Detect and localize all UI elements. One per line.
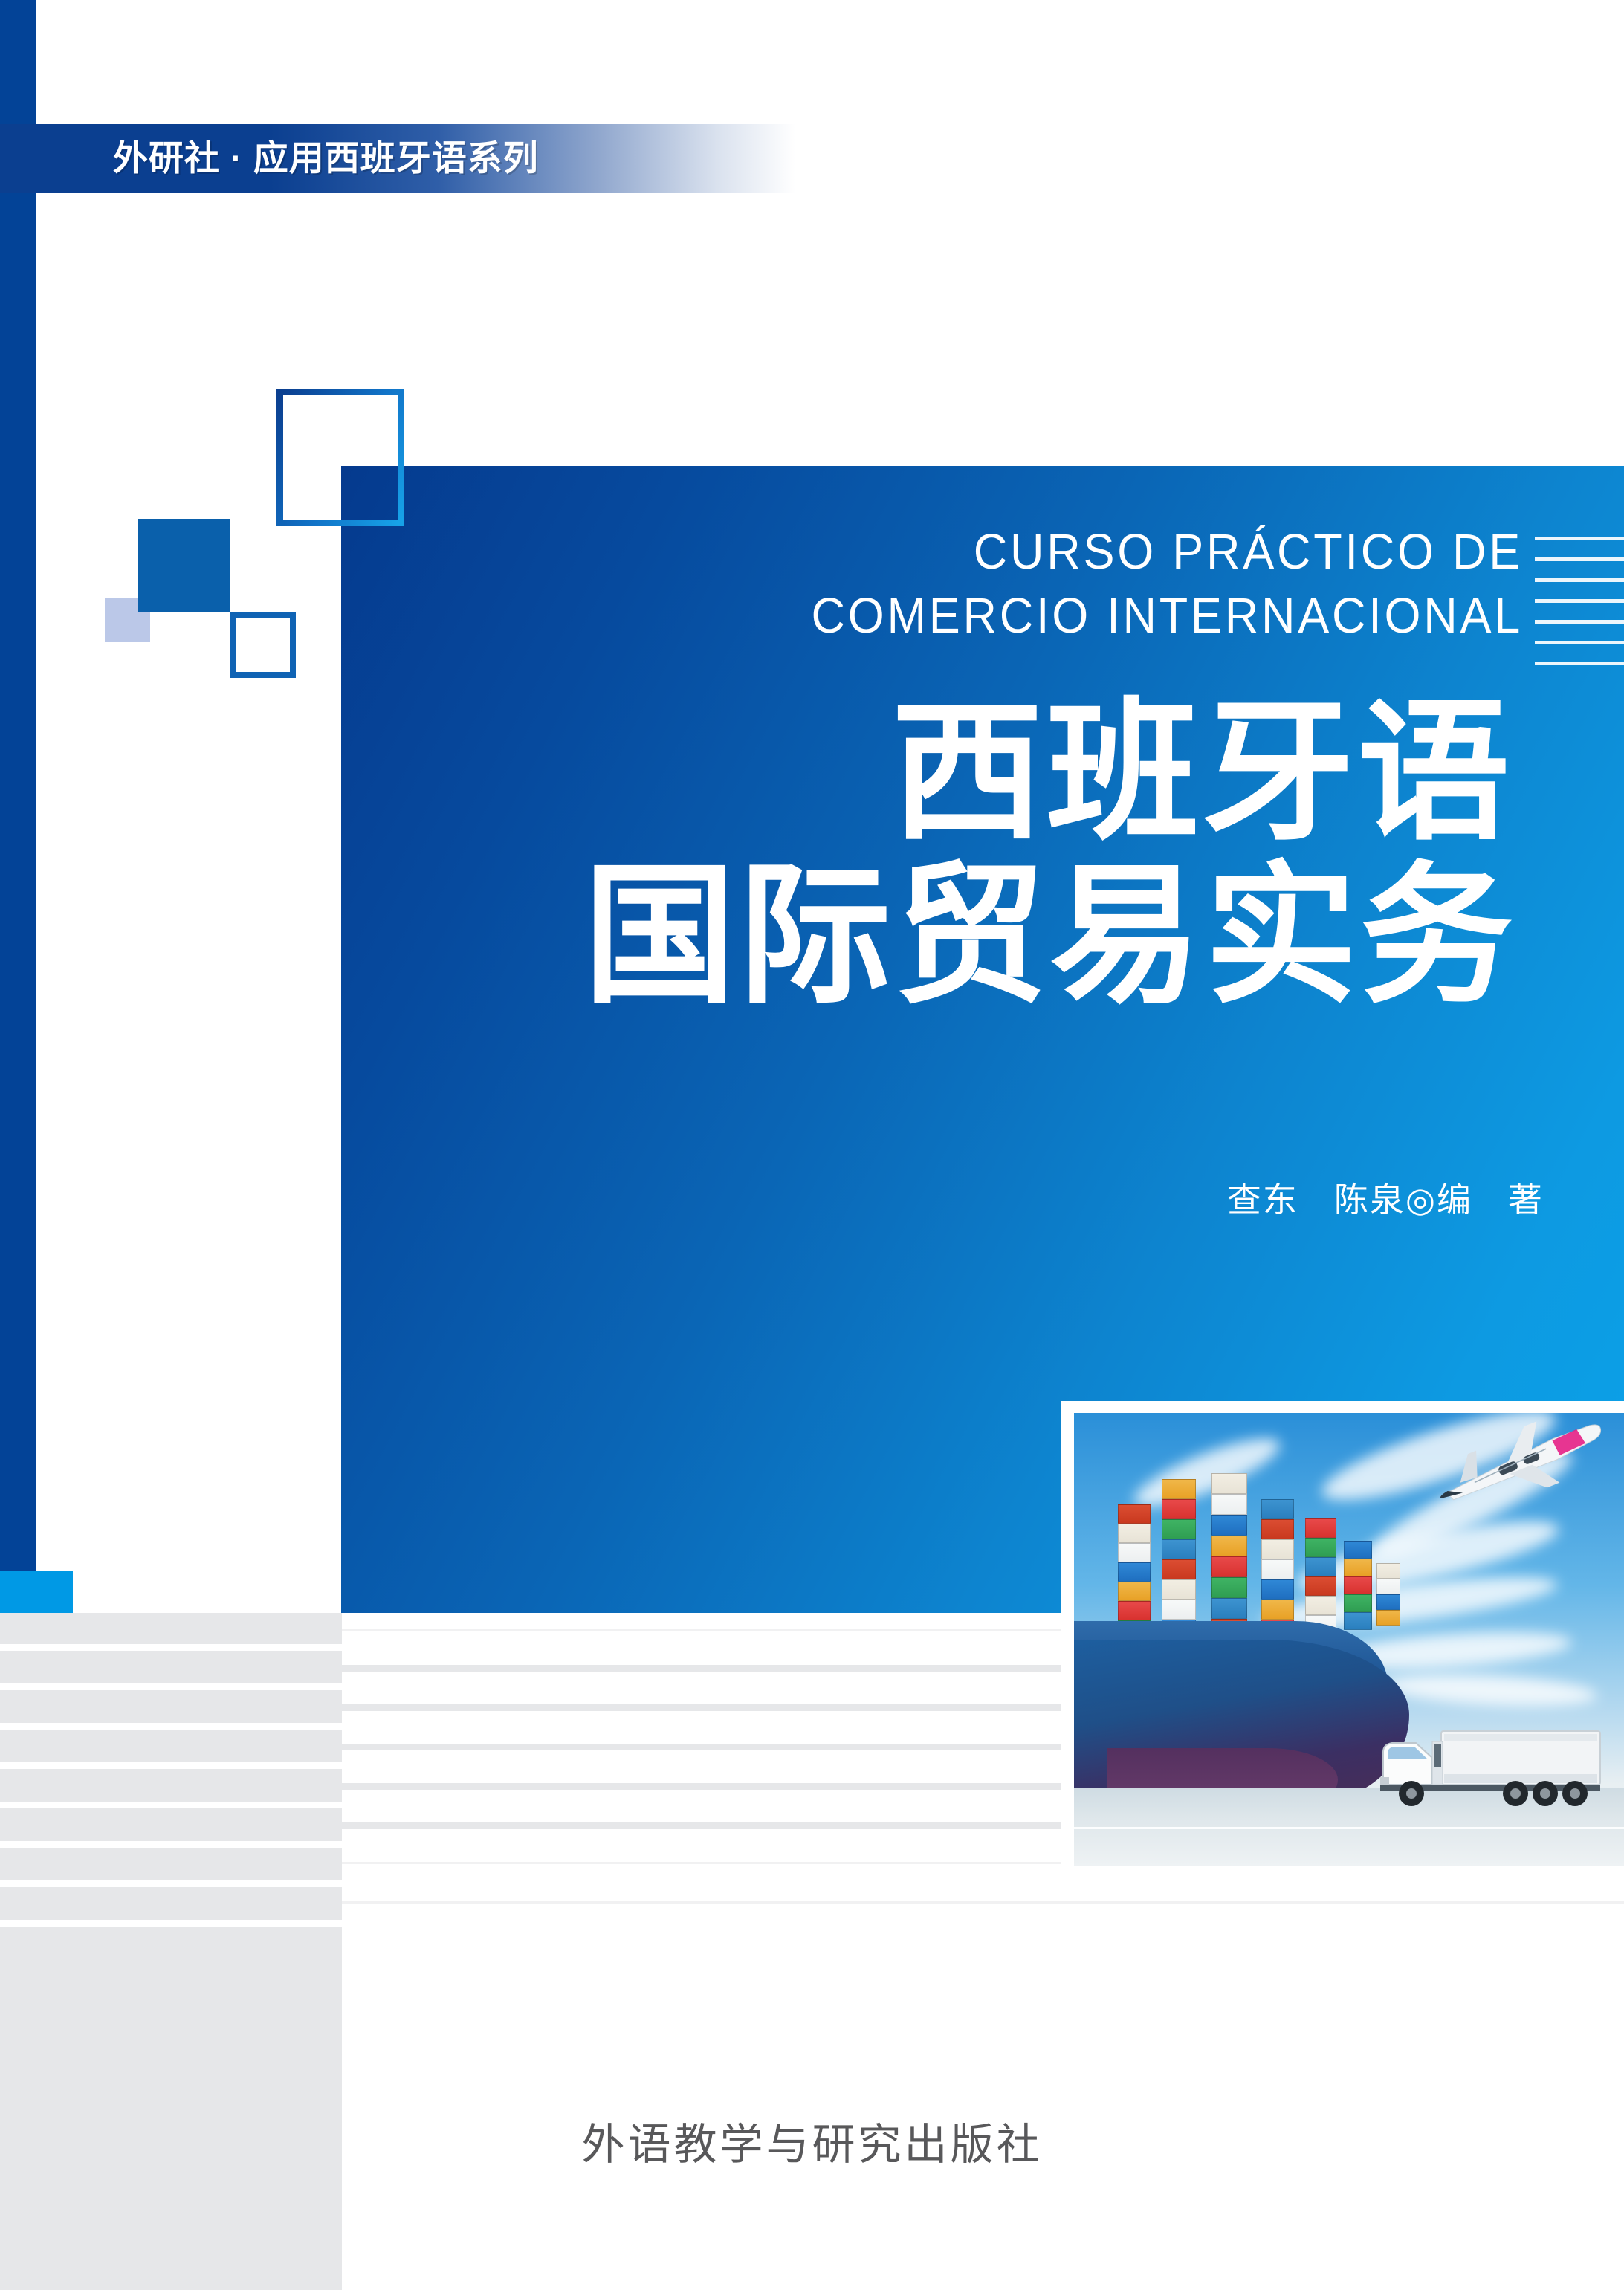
gray-column-separator — [0, 1683, 342, 1690]
shipping-container — [1118, 1524, 1151, 1543]
shipping-container — [1261, 1579, 1294, 1600]
left-accent-bar-cyan-tip — [0, 1571, 73, 1613]
book-cover: 外研社 · 应用西班牙语系列 CURSO PRÁCTICO DE COMERCI… — [0, 0, 1624, 2290]
publisher-name: 外语教学与研究出版社 — [0, 2109, 1624, 2172]
shipping-container — [1211, 1598, 1247, 1619]
shipping-container — [1305, 1576, 1336, 1596]
shipping-container — [1261, 1519, 1294, 1539]
author-line: 查东 陈泉◎编 著 — [341, 1173, 1544, 1222]
main-title-line-1: 西班牙语 — [341, 691, 1515, 855]
shipping-container — [1118, 1582, 1151, 1601]
shipping-container — [1211, 1577, 1247, 1598]
shipping-container — [1376, 1579, 1400, 1594]
shipping-container — [1162, 1499, 1196, 1519]
shipping-container — [1162, 1579, 1196, 1600]
gray-column-separator — [0, 1920, 342, 1927]
bottom-gray-column — [0, 1613, 342, 2290]
shipping-container — [1162, 1600, 1196, 1620]
container-stack — [1162, 1479, 1196, 1640]
shipping-container — [1305, 1596, 1336, 1615]
airplane-icon — [1427, 1417, 1613, 1514]
shipping-container — [1211, 1494, 1247, 1515]
spanish-title-line-1: CURSO PRÁCTICO DE — [412, 520, 1523, 584]
cover-photo — [1074, 1413, 1624, 1866]
container-stack — [1344, 1541, 1372, 1630]
shipping-container — [1344, 1612, 1372, 1630]
decorative-square-solid — [138, 519, 230, 612]
shipping-container — [1118, 1601, 1151, 1620]
gray-column-separator — [0, 1723, 342, 1730]
shipping-container — [1376, 1563, 1400, 1579]
decorative-square-outline-large — [276, 389, 404, 526]
shipping-container — [1261, 1539, 1294, 1559]
shipping-container — [1162, 1539, 1196, 1559]
shipping-container — [1211, 1556, 1247, 1577]
decorative-line-stack — [1535, 537, 1624, 685]
gray-column-separator — [0, 1762, 342, 1769]
shipping-container — [1118, 1543, 1151, 1562]
container-stack — [1118, 1504, 1151, 1640]
shipping-container — [1261, 1499, 1294, 1519]
shipping-container — [1376, 1610, 1400, 1626]
shipping-container — [1305, 1557, 1336, 1576]
shipping-container — [1162, 1479, 1196, 1499]
white-area-separator — [342, 1901, 1624, 1904]
shipping-container — [1344, 1541, 1372, 1559]
shipping-container — [1162, 1559, 1196, 1579]
decorative-square-outline-small — [230, 612, 296, 678]
decorative-line — [1535, 537, 1624, 540]
shipping-container — [1211, 1515, 1247, 1536]
gray-column-separator — [0, 1644, 342, 1651]
cloud-wisp-icon — [1382, 1670, 1599, 1711]
shipping-container — [1344, 1559, 1372, 1576]
container-stack — [1211, 1473, 1247, 1640]
spanish-title-line-2: COMERCIO INTERNACIONAL — [412, 584, 1523, 648]
main-title: 西班牙语 国际贸易实务 — [341, 691, 1515, 1018]
shipping-container — [1305, 1518, 1336, 1538]
shipping-container — [1118, 1562, 1151, 1582]
truck-icon — [1370, 1722, 1608, 1811]
decorative-line — [1535, 557, 1624, 561]
container-stack — [1261, 1499, 1294, 1640]
shipping-container — [1118, 1504, 1151, 1524]
shipping-container — [1261, 1559, 1294, 1579]
shipping-container — [1211, 1473, 1247, 1494]
gray-column-separator — [0, 1841, 342, 1848]
shipping-container — [1211, 1536, 1247, 1556]
decorative-line — [1535, 578, 1624, 582]
cover-photo-frame — [1061, 1401, 1624, 1866]
series-banner-label: 外研社 · 应用西班牙语系列 — [113, 134, 539, 183]
shipping-container — [1376, 1594, 1400, 1610]
decorative-line — [1535, 599, 1624, 603]
shipping-container — [1344, 1576, 1372, 1594]
decorative-line — [1535, 620, 1624, 624]
horizon-line — [1074, 1827, 1624, 1829]
decorative-line — [1535, 641, 1624, 644]
gray-column-separator — [0, 1880, 342, 1887]
container-stack — [1305, 1518, 1336, 1634]
shipping-container — [1162, 1519, 1196, 1539]
container-stack — [1376, 1563, 1400, 1626]
shipping-container — [1344, 1594, 1372, 1612]
shipping-container — [1305, 1538, 1336, 1557]
shipping-container — [1261, 1600, 1294, 1620]
decorative-line — [1535, 662, 1624, 665]
spanish-title: CURSO PRÁCTICO DE COMERCIO INTERNACIONAL — [412, 520, 1523, 648]
gray-column-separator — [0, 1802, 342, 1808]
main-title-line-2: 国际贸易实务 — [341, 855, 1515, 1018]
left-accent-bar — [0, 0, 36, 1613]
